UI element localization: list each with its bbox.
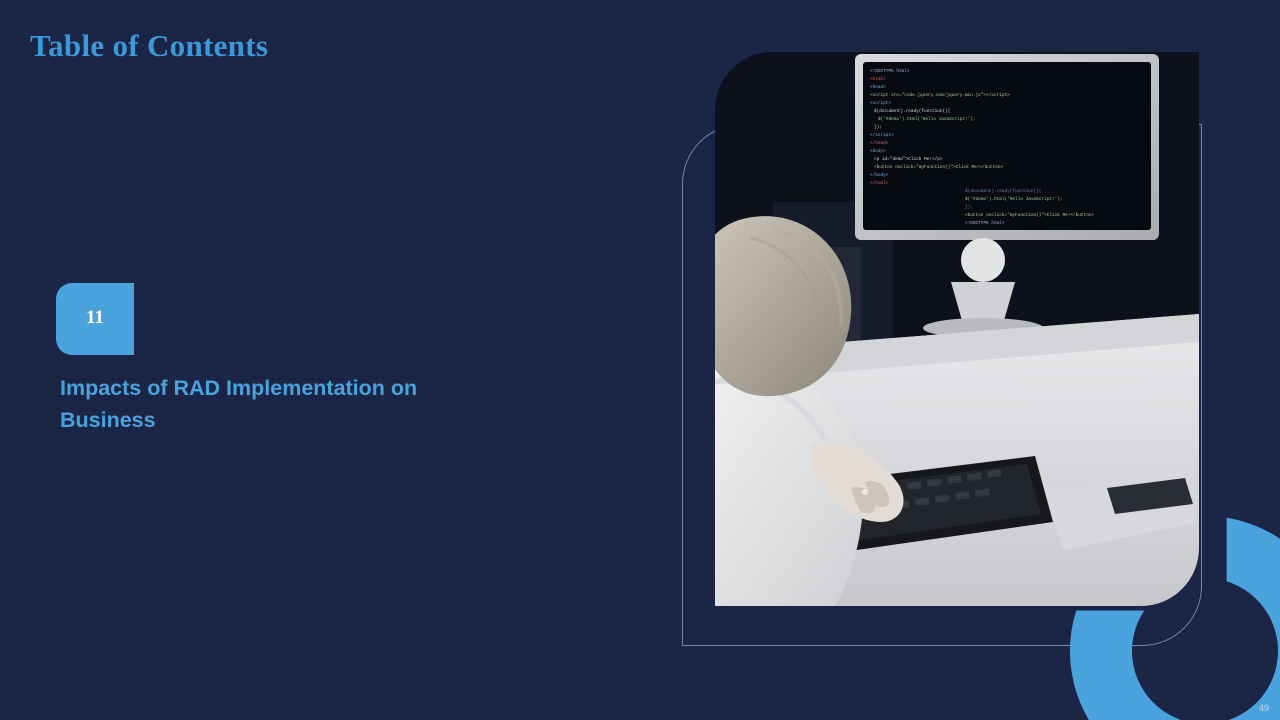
svg-text:</html>: </html> <box>870 181 889 186</box>
svg-text:<!DOCTYPE html>: <!DOCTYPE html> <box>870 69 910 74</box>
svg-text:</script>: </script> <box>870 133 894 138</box>
slide-root: Table of Contents 11 Impacts of RAD Impl… <box>0 0 1280 720</box>
svg-text:<p id="demo">Click Me!</p>: <p id="demo">Click Me!</p> <box>874 157 943 162</box>
svg-text:<head>: <head> <box>870 85 886 90</box>
svg-text:});: }); <box>965 205 973 210</box>
svg-text:<script>: <script> <box>870 101 891 106</box>
svg-text:<script src="code.jquery.com/j: <script src="code.jquery.com/jquery.min.… <box>870 93 1010 98</box>
photo-workstation: <!DOCTYPE html> <html> <head> <script sr… <box>715 52 1199 606</box>
agenda-item-label: Impacts of RAD Implementation on Busines… <box>60 372 510 436</box>
page-title: Table of Contents <box>30 28 268 64</box>
svg-text:$('#demo').html('Hello JavaScr: $('#demo').html('Hello JavaScript!'); <box>965 197 1063 202</box>
svg-text:<button onclick="myFunction()": <button onclick="myFunction()">Click Me!… <box>874 165 1003 170</box>
right-graphic-group: <!DOCTYPE html> <html> <head> <script sr… <box>660 0 1280 720</box>
svg-text:<html>: <html> <box>870 77 886 82</box>
page-number: 49 <box>1259 703 1269 713</box>
svg-text:$('#demo').html('Hello JavaScr: $('#demo').html('Hello JavaScript!'); <box>878 117 976 122</box>
photo-illustration: <!DOCTYPE html> <html> <head> <script sr… <box>715 52 1199 606</box>
svg-text:});: }); <box>874 125 882 130</box>
svg-text:<body>: <body> <box>870 149 886 154</box>
svg-text:</head>: </head> <box>870 141 889 146</box>
svg-text:<!DOCTYPE html>: <!DOCTYPE html> <box>965 221 1005 226</box>
svg-text:</body>: </body> <box>870 173 889 178</box>
agenda-number: 11 <box>56 307 134 329</box>
agenda-number-badge: 11 <box>56 283 134 355</box>
svg-text:<button onclick="myFunction()": <button onclick="myFunction()">Click Me!… <box>965 213 1094 218</box>
svg-text:$(document).ready(function(){: $(document).ready(function(){ <box>965 189 1042 194</box>
svg-text:$(document).ready(function(){: $(document).ready(function(){ <box>874 109 951 114</box>
